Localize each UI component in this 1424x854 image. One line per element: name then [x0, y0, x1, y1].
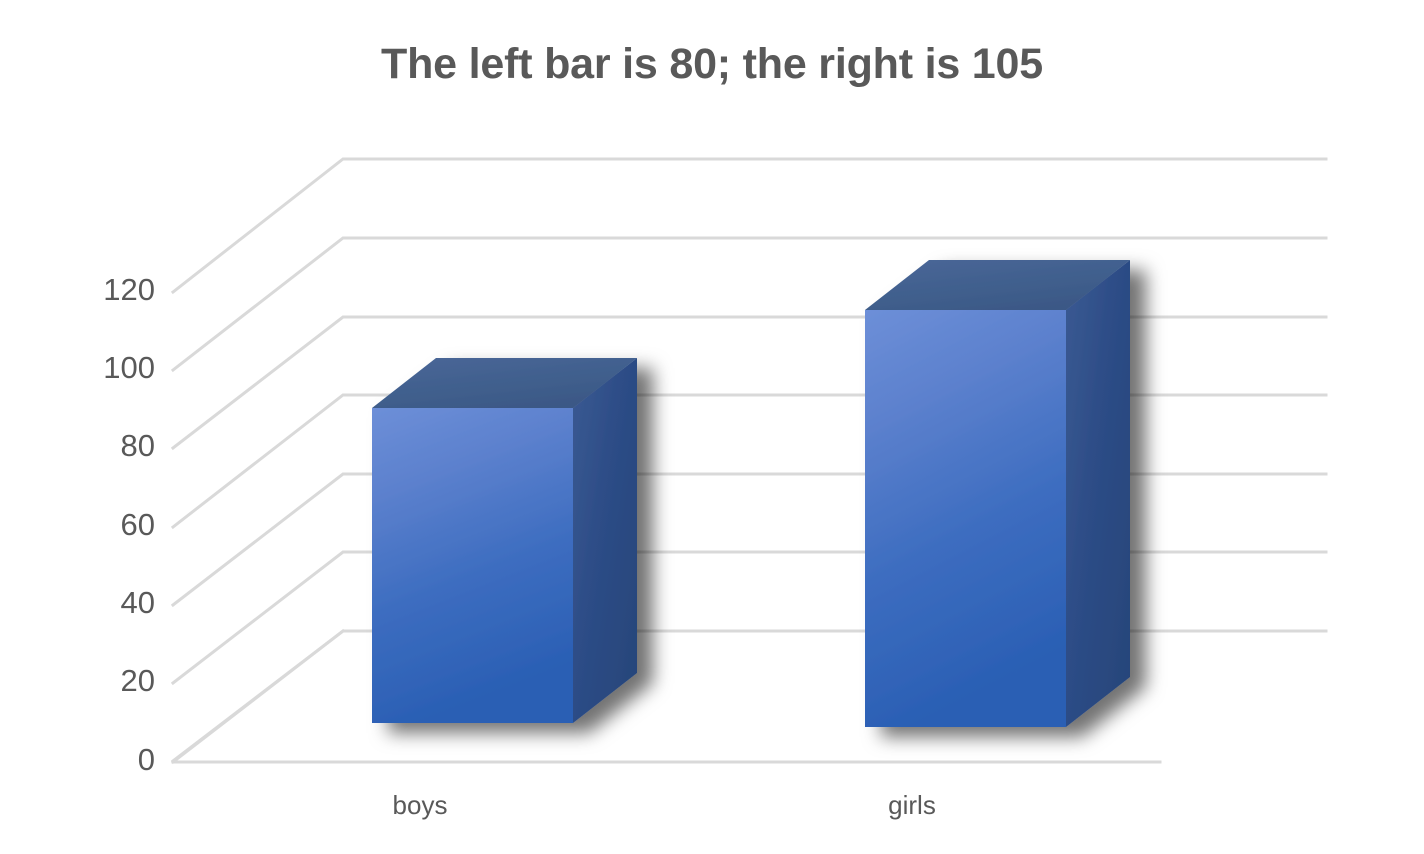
- bar-boys-side-face: [573, 358, 637, 723]
- ytick-label-20: 20: [35, 665, 155, 696]
- bar-boys[interactable]: [372, 358, 637, 723]
- gridline-80: [173, 395, 1326, 527]
- xtick-label-boys: boys: [270, 792, 570, 818]
- bar-girls-side-face: [1066, 260, 1130, 727]
- bar-girls-front-face: [865, 310, 1066, 727]
- ytick-label-60: 60: [35, 509, 155, 540]
- ytick-label-100: 100: [35, 352, 155, 383]
- ytick-label-40: 40: [35, 587, 155, 618]
- gridline-60: [173, 474, 1326, 605]
- chart-canvas: The left bar is 80; the right is 105: [0, 0, 1424, 854]
- ytick-label-0: 0: [35, 744, 155, 775]
- ytick-label-120: 120: [35, 274, 155, 305]
- gridline-100: [173, 317, 1326, 448]
- xtick-label-girls: girls: [762, 792, 1062, 818]
- gridlines: [173, 159, 1326, 761]
- gridline-40: [173, 552, 1326, 683]
- bar-girls[interactable]: [865, 260, 1130, 727]
- gridline-20: [173, 631, 1326, 761]
- ytick-label-80: 80: [35, 430, 155, 461]
- gridline-top: [173, 159, 1326, 292]
- gridline-120: [173, 238, 1326, 370]
- bar-boys-front-face: [372, 408, 573, 723]
- plot-area: [0, 0, 1424, 854]
